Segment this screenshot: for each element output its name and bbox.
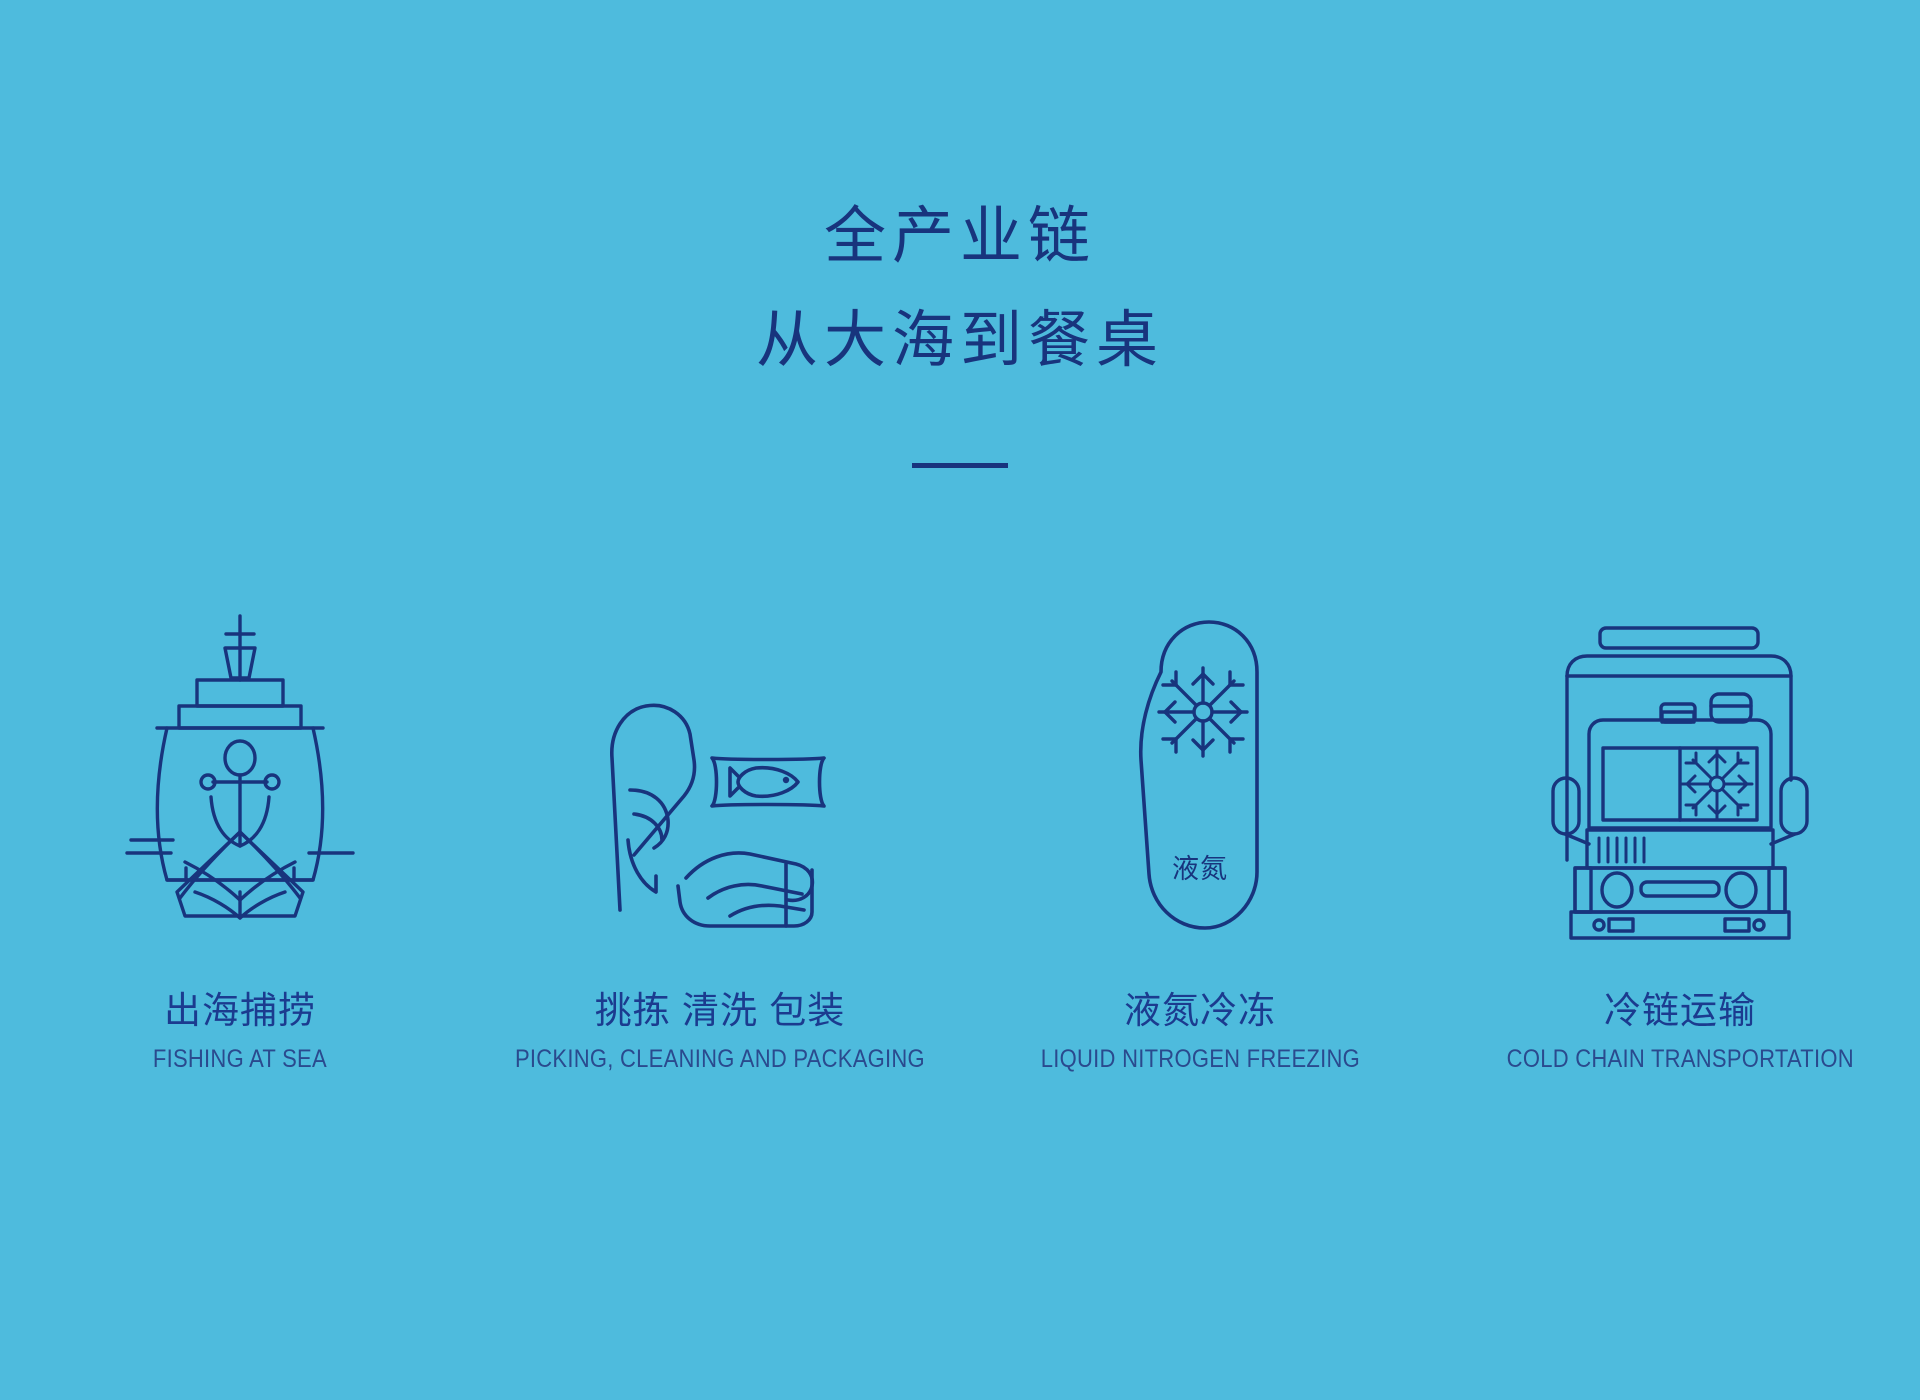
caption-cn: 出海捕捞 [141,988,339,1034]
caption-en: FISHING AT SEA [153,1042,327,1076]
caption-liquid-nitrogen-freezing: 液氮冷冻 LIQUID NITROGEN FREEZING [1019,988,1382,1076]
liquid-nitrogen-tank-icon: 液氮 [1125,610,1275,940]
step-picking-cleaning-packaging: 挑拣 清洗 包装 PICKING, CLEANING AND PACKAGING [480,520,960,1076]
snowflake-icon [1159,668,1247,756]
liquid-nitrogen-tank-icon-box: 液氮 [1125,520,1275,940]
page-heading: 全产业链 从大海到餐桌 [0,185,1920,393]
caption-en: PICKING, CLEANING AND PACKAGING [515,1042,925,1076]
caption-cn: 挑拣 清洗 包装 [487,988,953,1034]
heading-divider [912,463,1008,468]
hands-with-packaged-fish-icon-box [590,520,850,940]
fishing-boat-icon-box [125,520,355,940]
caption-picking-cleaning-packaging: 挑拣 清洗 包装 PICKING, CLEANING AND PACKAGING [487,988,953,1076]
grille-slats [1599,838,1644,862]
heading-divider-wrap [0,455,1920,473]
heading-line-2: 从大海到餐桌 [0,289,1920,393]
caption-en: COLD CHAIN TRANSPORTATION [1506,1042,1853,1076]
refrigerated-truck-icon-box [1545,520,1815,940]
process-steps: 出海捕捞 FISHING AT SEA [0,520,1920,1076]
fishing-boat-icon [125,610,355,940]
tank-label: 液氮 [1172,854,1228,884]
caption-cn: 冷链运输 [1483,988,1878,1034]
step-cold-chain-transportation: 冷链运输 COLD CHAIN TRANSPORTATION [1440,520,1920,1076]
heading-line-1: 全产业链 [0,185,1920,289]
caption-cn: 液氮冷冻 [1019,988,1382,1034]
step-liquid-nitrogen-freezing: 液氮 液氮冷冻 LIQUID NITROGEN FREEZING [960,520,1440,1076]
fish-packet [712,758,824,806]
infographic-page: 全产业链 从大海到餐桌 [0,0,1920,1400]
step-fishing-at-sea: 出海捕捞 FISHING AT SEA [0,520,480,1076]
hands-with-packaged-fish-icon [590,640,850,940]
caption-en: LIQUID NITROGEN FREEZING [1040,1042,1359,1076]
snowflake-icon [1682,749,1752,819]
caption-cold-chain-transportation: 冷链运输 COLD CHAIN TRANSPORTATION [1483,988,1878,1076]
refrigerated-truck-icon [1545,620,1815,940]
caption-fishing-at-sea: 出海捕捞 FISHING AT SEA [141,988,339,1076]
